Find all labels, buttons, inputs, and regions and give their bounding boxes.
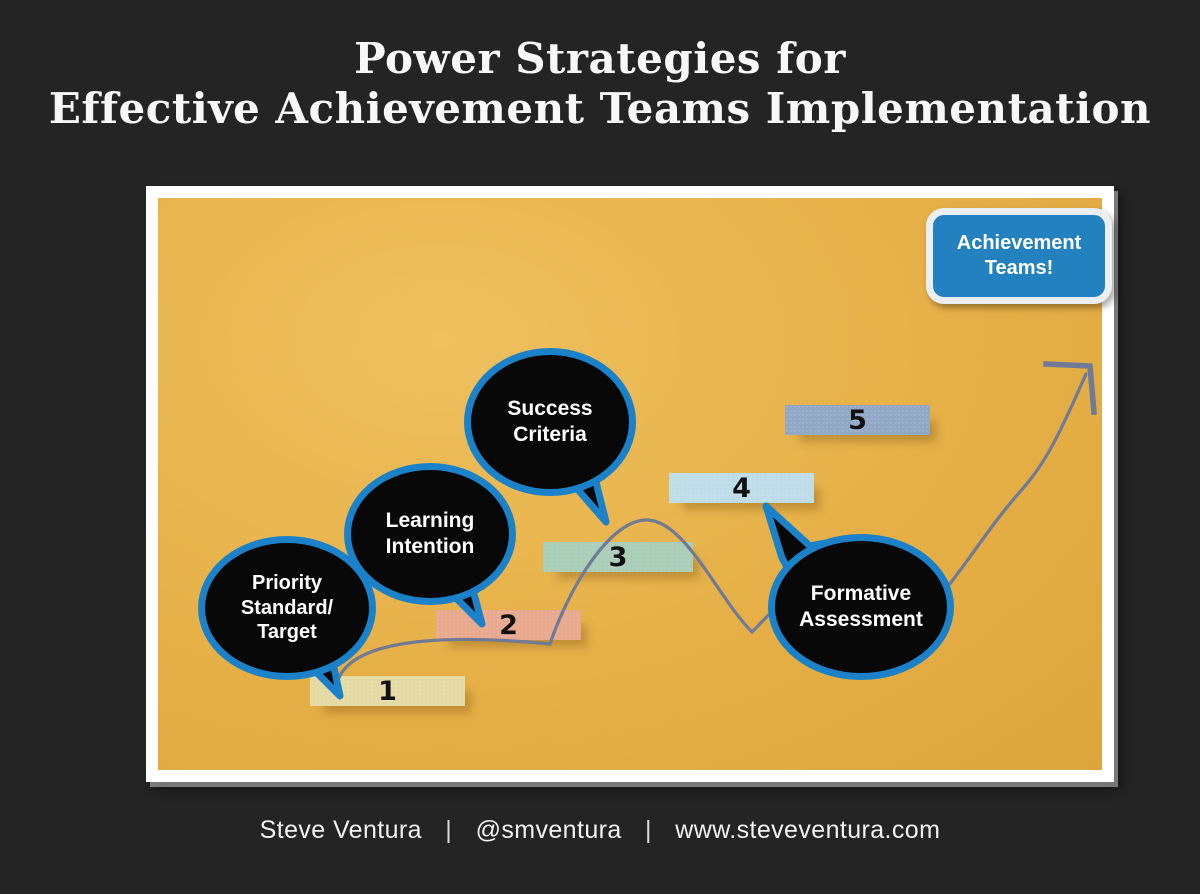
goal-line-2: Teams! [957, 256, 1082, 281]
bubble-formative-assessment[interactable]: Formative Assessment [768, 534, 954, 680]
bubble-formative-line-2: Assessment [799, 607, 923, 633]
title-line-2: Effective Achievement Teams Implementati… [0, 84, 1200, 134]
bubble-success-criteria[interactable]: Success Criteria [464, 348, 636, 496]
bubble-learning-line-1: Learning [386, 508, 475, 534]
bubble-formative-line-1: Formative [799, 581, 923, 607]
footer: Steve Ventura | @smventura | www.steveve… [0, 816, 1200, 845]
footer-separator-1: | [429, 816, 468, 845]
footer-separator-2: | [629, 816, 668, 845]
bubble-success-line-1: Success [507, 396, 592, 422]
bubble-priority-line-3: Target [241, 620, 333, 644]
bubble-priority-line-2: Standard/ [241, 596, 333, 620]
title-line-1: Power Strategies for [0, 34, 1200, 84]
bubble-learning-intention[interactable]: Learning Intention [344, 463, 516, 605]
bubble-success-text: Success Criteria [501, 396, 598, 447]
page-title: Power Strategies for Effective Achieveme… [0, 34, 1200, 133]
goal-line-1: Achievement [957, 231, 1082, 256]
photo-frame: 1 2 3 4 5 Priority Standard/ [146, 186, 1114, 782]
bubble-priority-text: Priority Standard/ Target [235, 571, 339, 644]
bubble-formative-text: Formative Assessment [793, 581, 929, 632]
goal-box-achievement-teams[interactable]: Achievement Teams! [926, 208, 1112, 304]
footer-handle[interactable]: @smventura [476, 816, 622, 844]
goal-box-text: Achievement Teams! [957, 231, 1082, 281]
footer-website[interactable]: www.steveventura.com [675, 816, 940, 844]
bubble-priority-line-1: Priority [241, 571, 333, 595]
bubble-learning-text: Learning Intention [380, 508, 481, 559]
diagram-photo: 1 2 3 4 5 Priority Standard/ [158, 198, 1102, 770]
bubble-success-line-2: Criteria [507, 422, 592, 448]
bubble-learning-line-2: Intention [386, 534, 475, 560]
footer-author: Steve Ventura [260, 816, 422, 844]
